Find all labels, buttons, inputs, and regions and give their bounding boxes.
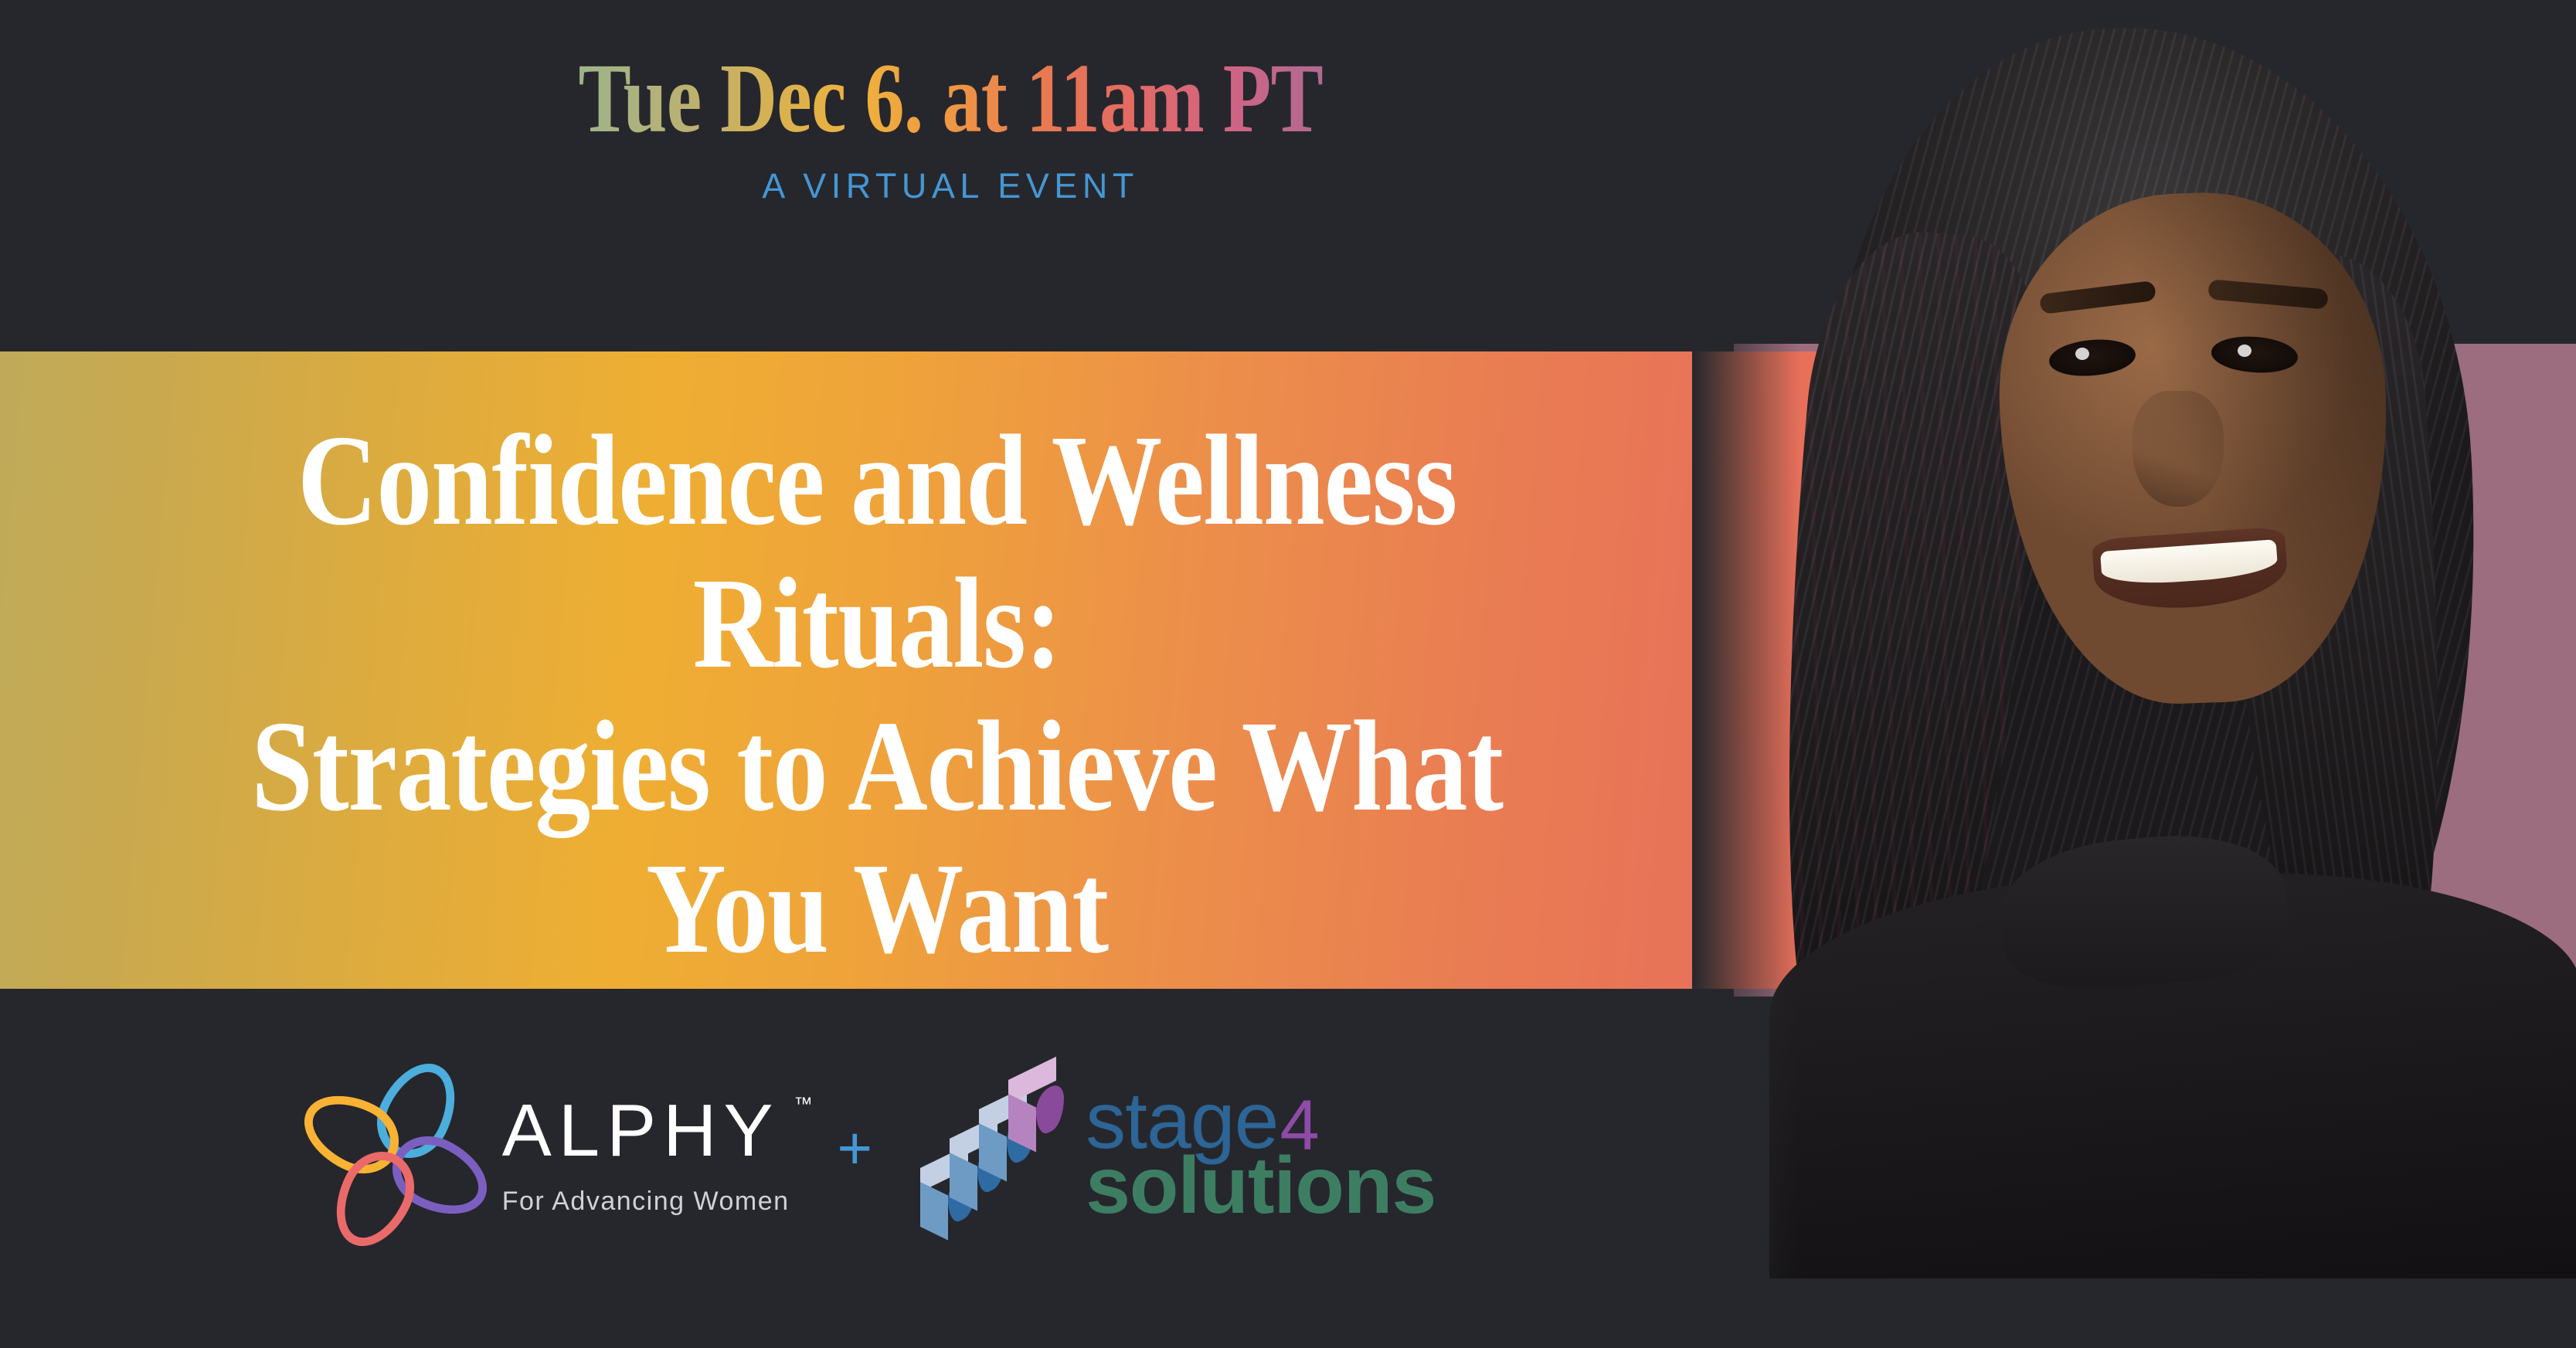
stage4-text-block: stage 4 solutions	[1086, 1085, 1436, 1225]
event-type-label: A VIRTUAL EVENT	[762, 166, 1139, 206]
title-line-1: Confidence and Wellness Rituals:	[127, 409, 1627, 695]
portrait-illustration	[1692, 0, 2576, 1278]
alphy-tagline: For Advancing Women	[502, 1187, 790, 1217]
alphy-petal-icon	[334, 1093, 457, 1217]
speaker-photo	[1692, 0, 2576, 1278]
staircase-cubes-icon	[920, 1088, 1058, 1223]
solutions-word: solutions	[1086, 1148, 1436, 1225]
stage4-solutions-logo[interactable]: stage 4 solutions	[920, 1085, 1436, 1225]
event-date-heading: Tue Dec 6. at 11am PT	[578, 48, 1323, 149]
eye-highlight-right	[2238, 345, 2251, 357]
alphy-text-block: ALPHY ™ For Advancing Women	[502, 1094, 790, 1217]
logo-separator-plus: +	[838, 1118, 873, 1178]
alphy-wordmark: ALPHY ™	[502, 1094, 790, 1168]
alphy-logo[interactable]: ALPHY ™ For Advancing Women	[334, 1093, 790, 1217]
title-line-3: You Want	[127, 837, 1627, 980]
alphy-wordmark-text: ALPHY	[502, 1089, 780, 1172]
event-title: Confidence and Wellness Rituals: Strateg…	[0, 409, 1754, 980]
nose	[2133, 391, 2224, 507]
title-line-2: Strategies to Achieve What	[127, 695, 1627, 838]
header-zone: Tue Dec 6. at 11am PT A VIRTUAL EVENT	[0, 0, 1901, 351]
trademark-symbol: ™	[794, 1095, 813, 1114]
teeth	[2100, 539, 2279, 587]
event-promo-banner: Tue Dec 6. at 11am PT A VIRTUAL EVENT Co…	[0, 0, 2576, 1348]
partner-logo-row: ALPHY ™ For Advancing Women +	[0, 1066, 1769, 1244]
cube-4-purple-icon	[1008, 1080, 1064, 1146]
eye-highlight-left	[2075, 348, 2089, 360]
